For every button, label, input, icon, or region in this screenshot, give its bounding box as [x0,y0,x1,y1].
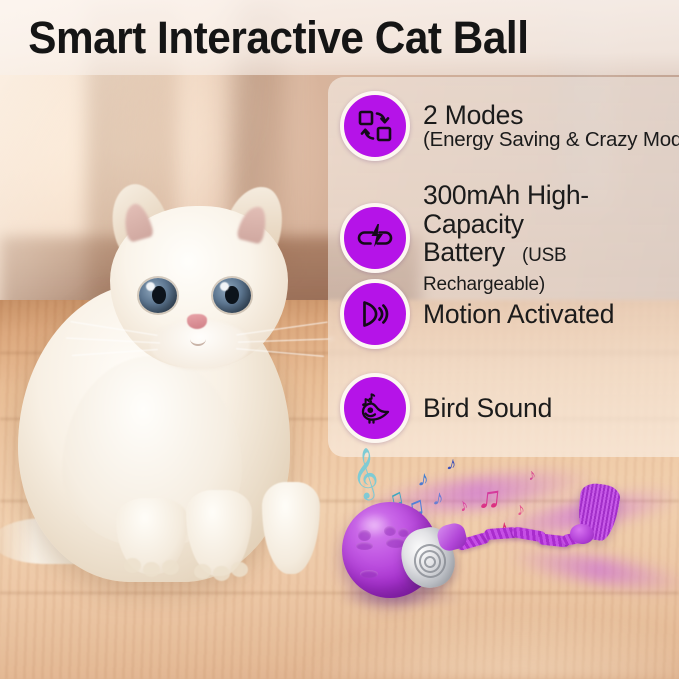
ball-paw-emboss [360,570,378,578]
two-modes-swap-icon [340,91,410,161]
page-title: Smart Interactive Cat Ball [0,15,528,60]
cat-toe [231,562,248,577]
cat-eye-glint-left [146,282,155,291]
cat-toe [162,560,179,575]
feature-item-motion: Motion Activated [328,279,614,349]
cat-eye-glint-right [220,282,229,291]
product-cat-ball [330,440,679,640]
battery-charging-bolt-icon [340,203,410,273]
motion-blur-trail [505,544,679,597]
feature-text-bird-sound: Bird Sound [423,394,552,422]
ball-paw-emboss [384,526,396,536]
feature-list-panel: 2 Modes (Energy Saving & Crazy Mode) 300… [328,77,679,457]
feature-title-line1: 300mAh High-Capacity [423,181,679,238]
feature-text-2-modes: 2 Modes (Energy Saving & Crazy Mode) [423,101,679,152]
feature-title: 2 Modes [423,101,679,129]
cat-mouth [190,332,206,346]
cat-toe [143,562,160,577]
ball-paw-emboss [356,542,373,550]
motion-sensor-waves-icon [340,279,410,349]
feature-title-line2: Battery [423,237,505,267]
feature-item-2-modes: 2 Modes (Energy Saving & Crazy Mode) [328,91,679,161]
bird-with-music-notes-icon [340,373,410,443]
product-marketing-image: Smart Interactive Cat Ball 2 Modes (Ener… [0,0,679,679]
ball-paw-emboss [358,530,371,541]
feature-text-motion: Motion Activated [423,300,614,328]
cat-photo [10,160,340,580]
feature-subtitle: (Energy Saving & Crazy Mode) [423,129,679,152]
cat-toe [213,566,230,581]
feature-title: Bird Sound [423,394,552,422]
cat-toe [124,558,141,573]
cat-leg [262,482,320,574]
title-banner: Smart Interactive Cat Ball [0,0,679,75]
cat-toe [194,564,211,579]
feature-title: Motion Activated [423,300,614,328]
feature-item-bird-sound: Bird Sound [328,373,552,443]
